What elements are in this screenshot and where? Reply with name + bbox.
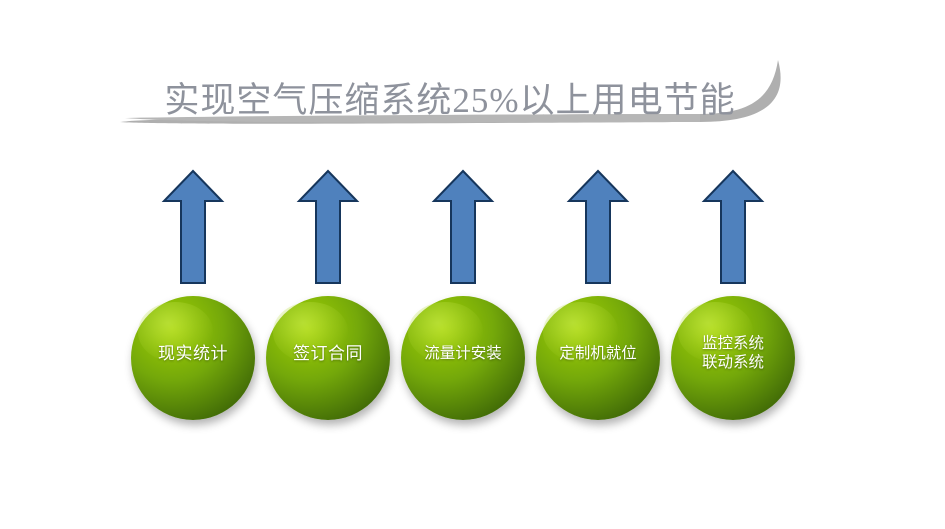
step-label-3: 流量计安装: [401, 296, 525, 420]
step-label-2: 签订合同: [266, 296, 390, 420]
step-label-4: 定制机就位: [536, 296, 660, 420]
step-node-3[interactable]: 流量计安装: [401, 296, 525, 420]
step-node-4[interactable]: 定制机就位: [536, 296, 660, 420]
step-label-line: 定制机就位: [559, 345, 637, 364]
up-arrow-icon-1: [161, 168, 225, 286]
step-label-line: 流量计安装: [424, 345, 502, 364]
step-label-line: 监控系统: [702, 335, 764, 354]
title-banner: 实现空气压缩系统25%以上用电节能: [0, 30, 945, 150]
up-arrow-icon-2: [296, 168, 360, 286]
step-node-1[interactable]: 现实统计: [131, 296, 255, 420]
up-arrow-icon-5: [701, 168, 765, 286]
step-label-5: 监控系统 联动系统: [671, 296, 795, 420]
page-title: 实现空气压缩系统25%以上用电节能: [150, 72, 750, 123]
step-label-line: 联动系统: [702, 354, 764, 373]
up-arrow-icon-4: [566, 168, 630, 286]
slide-canvas: 实现空气压缩系统25%以上用电节能 现实统计 签订合同 流量计安装: [0, 0, 945, 529]
step-label-line: 签订合同: [293, 344, 363, 365]
step-node-2[interactable]: 签订合同: [266, 296, 390, 420]
step-label-1: 现实统计: [131, 296, 255, 420]
up-arrow-icon-3: [431, 168, 495, 286]
step-label-line: 现实统计: [158, 344, 228, 365]
step-node-5[interactable]: 监控系统 联动系统: [671, 296, 795, 420]
